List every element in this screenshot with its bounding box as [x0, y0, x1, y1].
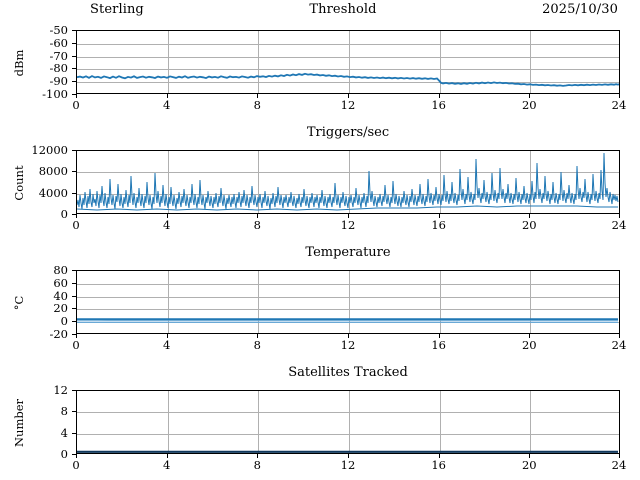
xtick-label: 12	[341, 220, 356, 232]
xtick-label: 4	[163, 220, 170, 232]
panel-satellites-xticks: 0 4 8 12 16 20 24	[76, 456, 620, 472]
ytick-label: 40	[53, 291, 68, 303]
panel-satellites-plot	[76, 390, 620, 454]
ytick-label: -70	[49, 51, 68, 63]
panel-temperature-yticks: 80 60 40 20 0 -20	[0, 270, 68, 334]
panel-temperature-ylabel: °C	[12, 288, 26, 318]
panel-temperature-xticks: 0 4 8 12 16 20 24	[76, 336, 620, 352]
xtick-label: 8	[254, 220, 261, 232]
xtick-label: 20	[522, 340, 537, 352]
observation-date: 2025/10/30	[542, 2, 620, 17]
ytick-label: -60	[49, 38, 68, 50]
ytick-label: 80	[53, 265, 68, 277]
panel-threshold-series	[77, 31, 619, 93]
xtick-label: 12	[341, 100, 356, 112]
xtick-label: 16	[431, 460, 446, 472]
ytick-label: -90	[49, 76, 68, 88]
figure-header: Sterling Threshold 2025/10/30	[76, 0, 620, 18]
panel-satellites-yticks: 12 8 4 0	[0, 390, 68, 454]
ytick-label: -20	[49, 329, 68, 341]
ytick-label: 0	[61, 449, 68, 461]
panel-triggers-xticks: 0 4 8 12 16 20 24	[76, 216, 620, 232]
xtick-label: 16	[431, 220, 446, 232]
ytick-label: 12000	[31, 145, 68, 157]
xtick-label: 0	[72, 340, 79, 352]
xtick-label: 8	[254, 340, 261, 352]
xtick-label: 4	[163, 460, 170, 472]
ytick-label: 4000	[39, 188, 68, 200]
xtick-label: 24	[612, 100, 627, 112]
ytick-label: -50	[49, 25, 68, 37]
ytick-label: 60	[53, 278, 68, 290]
panel-temperature-plot	[76, 270, 620, 334]
xtick-label: 4	[163, 340, 170, 352]
ytick-label: 4	[61, 428, 68, 440]
xtick-label: 20	[522, 460, 537, 472]
panel-triggers-plot	[76, 150, 620, 214]
ytick-label: -100	[42, 89, 68, 101]
xtick-label: 0	[72, 100, 79, 112]
panel-triggers-series	[77, 151, 619, 213]
ytick-label: 8000	[39, 166, 68, 178]
panel-threshold-yticks: -50 -60 -70 -80 -90 -100	[0, 30, 68, 94]
panel-satellites-title: Satellites Tracked	[76, 365, 620, 380]
xtick-label: 12	[341, 340, 356, 352]
xtick-label: 0	[72, 460, 79, 472]
xtick-label: 4	[163, 100, 170, 112]
panel-satellites-series	[77, 391, 619, 453]
xtick-label: 20	[522, 220, 537, 232]
figure-canvas: Sterling Threshold 2025/10/30 -50 -60 -7…	[0, 0, 640, 480]
xtick-label: 24	[612, 340, 627, 352]
xtick-label: 0	[72, 220, 79, 232]
panel-temperature-series	[77, 271, 619, 333]
panel-satellites-ylabel: Number	[12, 396, 26, 450]
ytick-label: -80	[49, 63, 68, 75]
xtick-label: 16	[431, 340, 446, 352]
ytick-label: 0	[61, 316, 68, 328]
panel-threshold-plot	[76, 30, 620, 94]
panel-triggers-title: Triggers/sec	[76, 125, 620, 140]
xtick-label: 24	[612, 220, 627, 232]
xtick-label: 20	[522, 100, 537, 112]
xtick-label: 12	[341, 460, 356, 472]
xtick-label: 24	[612, 460, 627, 472]
panel-threshold-ylabel: dBm	[12, 43, 26, 83]
figure-title: Threshold	[144, 2, 542, 17]
ytick-label: 0	[61, 209, 68, 221]
ytick-label: 20	[53, 303, 68, 315]
xtick-label: 8	[254, 460, 261, 472]
panel-threshold-xticks: 0 4 8 12 16 20 24	[76, 96, 620, 112]
ytick-label: 12	[53, 385, 68, 397]
station-name: Sterling	[76, 2, 144, 17]
ytick-label: 8	[61, 406, 68, 418]
xtick-label: 8	[254, 100, 261, 112]
xtick-label: 16	[431, 100, 446, 112]
panel-triggers-yticks: 12000 8000 4000 0	[0, 150, 68, 214]
panel-temperature-title: Temperature	[76, 245, 620, 260]
panel-triggers-ylabel: Count	[12, 160, 26, 206]
